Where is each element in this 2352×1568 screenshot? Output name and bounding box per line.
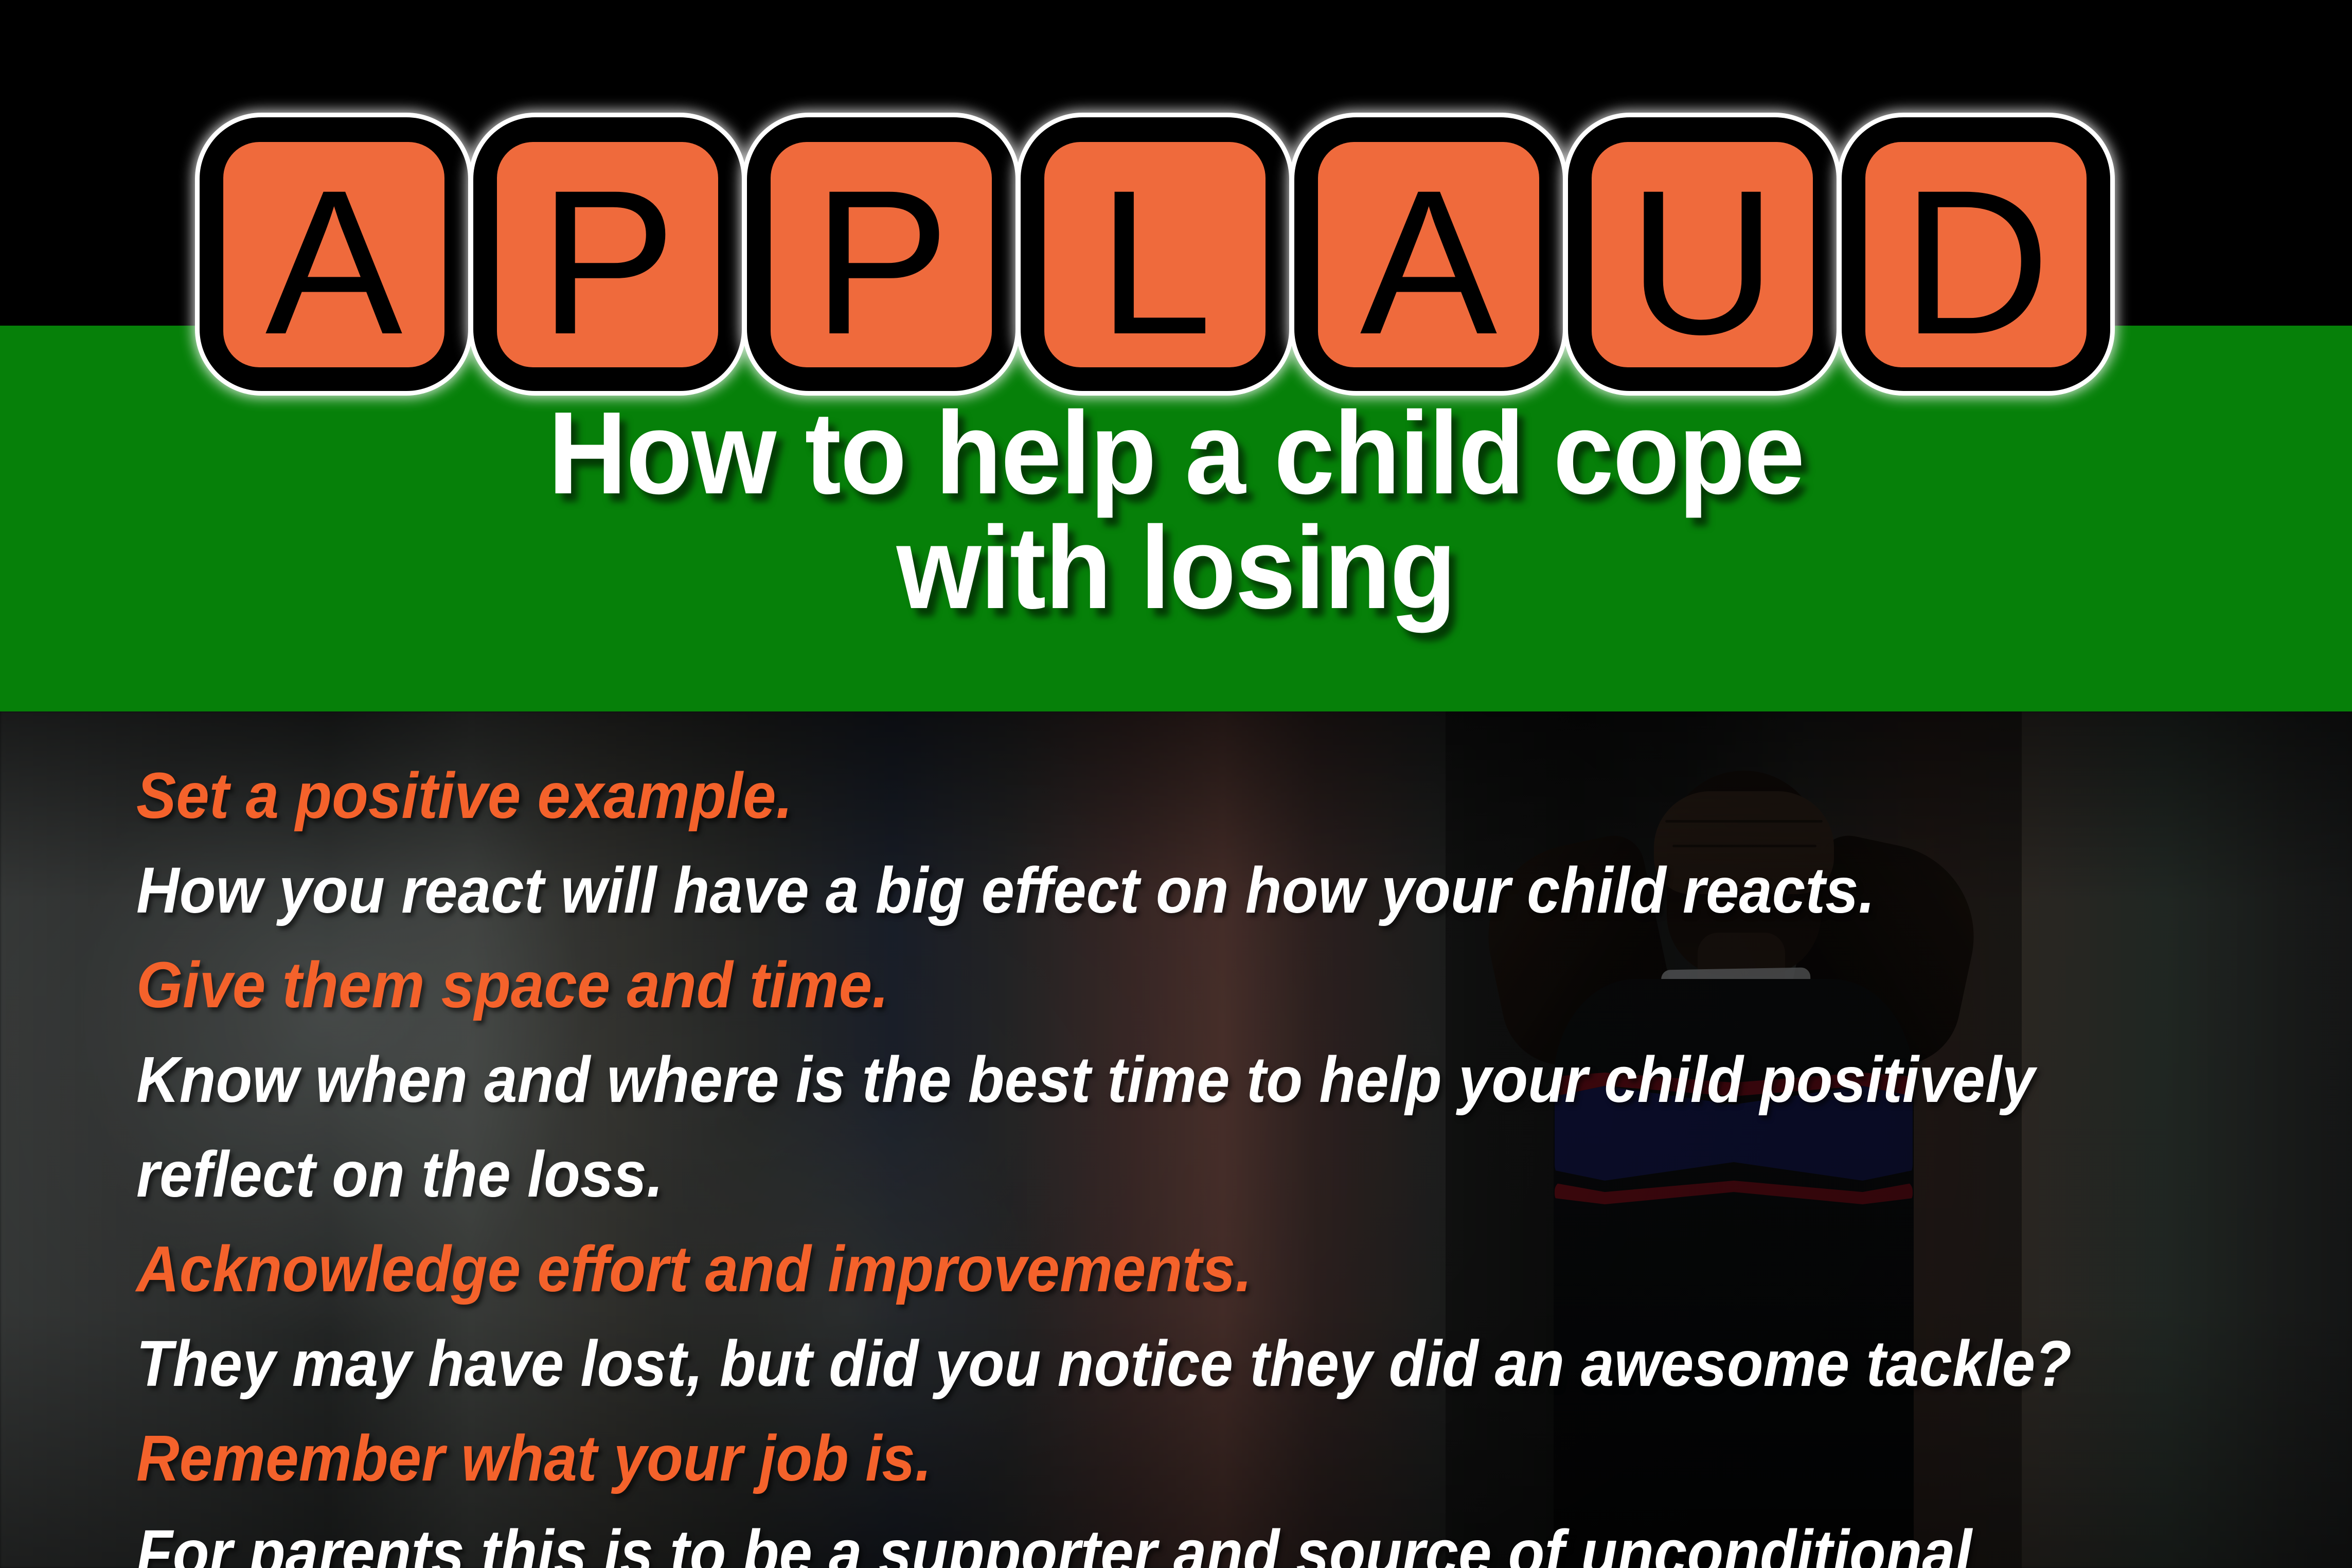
advice-copy: Set a positive example. How you react wi… [136,749,2091,1568]
subtitle: How to help a child cope with losing [82,396,2270,626]
letter-tile-a2: A [1294,117,1563,391]
letter-tile-a1: A [200,117,468,391]
advice-heading-3: Acknowledge effort and improvements. [136,1222,2091,1316]
applaud-tile-row: A P P L A U D [0,0,2352,406]
advice-body-2: Know when and where is the best time to … [136,1032,2091,1222]
advice-heading-4: Remember what your job is. [136,1411,2091,1506]
advice-body-4: For parents this is to be a supporter an… [136,1506,2091,1568]
advice-body-3: They may have lost, but did you notice t… [136,1316,2091,1411]
letter-tile-p1: P [473,117,742,391]
tile-letter: U [1628,159,1777,365]
tile-letter: D [1902,159,2051,365]
tile-letter: P [539,159,676,365]
letter-tile-d: D [1842,117,2110,391]
advice-heading-2: Give them space and time. [136,938,2091,1032]
advice-body-1: How you react will have a big effect on … [136,843,2091,938]
tile-letter: A [1360,159,1498,365]
letter-tile-p2: P [747,117,1015,391]
poster: A P P L A U D How to help a child cope [0,0,2352,1568]
subtitle-line-1: How to help a child cope [82,396,2270,511]
tile-letter: P [813,159,950,365]
letter-tile-u: U [1568,117,1837,391]
letter-tile-l: L [1021,117,1289,391]
tile-letter: A [265,159,403,365]
advice-heading-1: Set a positive example. [136,749,2091,843]
tile-letter: L [1098,159,1212,365]
subtitle-line-2: with losing [82,511,2270,626]
